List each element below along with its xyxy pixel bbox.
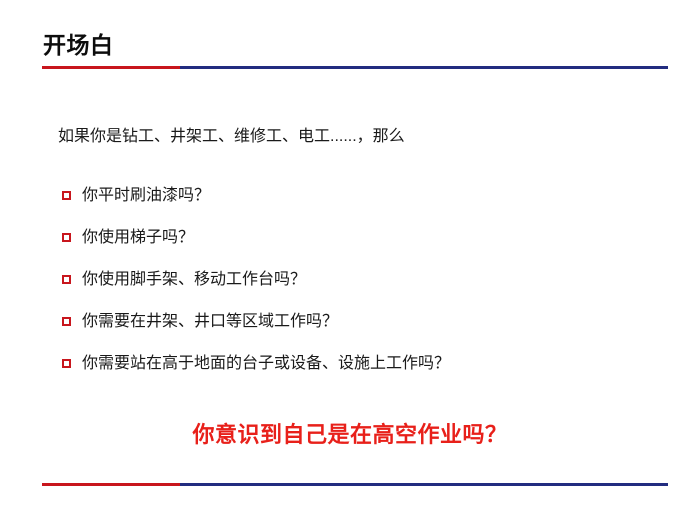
divider-blue-segment xyxy=(180,66,668,69)
footer-divider-bottom xyxy=(42,483,668,486)
list-item-label: 你需要在井架、井口等区域工作吗？ xyxy=(82,312,662,332)
callout-emphasis: 你意识到自己是在高空作业吗？ xyxy=(0,420,700,450)
list-item: 你需要站在高于地面的台子或设备、设施上工作吗？ xyxy=(62,354,662,396)
list-item-label: 你平时刷油漆吗？ xyxy=(82,186,662,206)
intro-paragraph: 如果你是钻工、井架工、维修工、电工......，那么 xyxy=(58,126,405,148)
list-item-label: 你需要站在高于地面的台子或设备、设施上工作吗？ xyxy=(82,354,662,374)
square-bullet-icon xyxy=(62,275,71,284)
square-bullet-icon xyxy=(62,359,71,368)
list-item-label: 你使用梯子吗？ xyxy=(82,228,662,248)
page-title: 开场白 xyxy=(43,30,114,60)
slide-canvas: 开场白 如果你是钻工、井架工、维修工、电工......，那么 你平时刷油漆吗？ … xyxy=(0,0,700,525)
list-item: 你使用梯子吗？ xyxy=(62,228,662,270)
list-item: 你需要在井架、井口等区域工作吗？ xyxy=(62,312,662,354)
question-list: 你平时刷油漆吗？ 你使用梯子吗？ 你使用脚手架、移动工作台吗？ 你需要在井架、井… xyxy=(62,186,662,396)
square-bullet-icon xyxy=(62,191,71,200)
divider-red-segment xyxy=(42,483,180,486)
divider-red-segment xyxy=(42,66,180,69)
callout-text: 你意识到自己是在高空作业吗？ xyxy=(192,420,507,450)
title-divider-top xyxy=(42,66,668,69)
divider-blue-segment xyxy=(180,483,668,486)
square-bullet-icon xyxy=(62,233,71,242)
list-item-label: 你使用脚手架、移动工作台吗？ xyxy=(82,270,662,290)
list-item: 你平时刷油漆吗？ xyxy=(62,186,662,228)
list-item: 你使用脚手架、移动工作台吗？ xyxy=(62,270,662,312)
square-bullet-icon xyxy=(62,317,71,326)
